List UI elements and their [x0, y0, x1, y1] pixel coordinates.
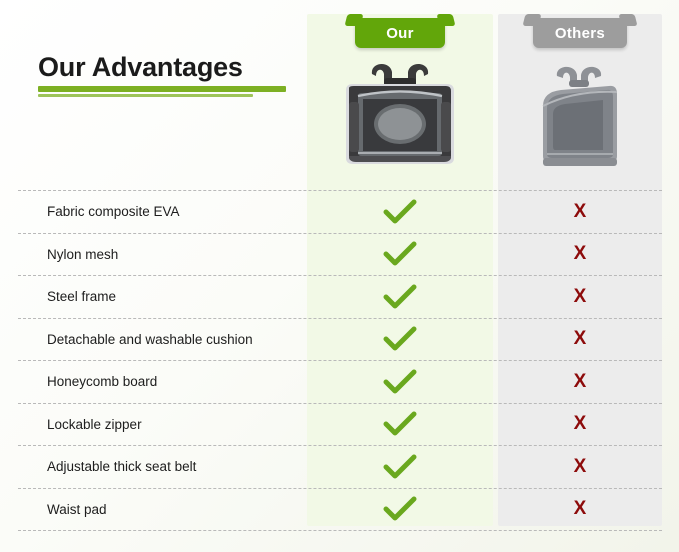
feature-label: Honeycomb board [47, 361, 157, 403]
column-header-others: Others [533, 18, 627, 48]
cross-label: X [574, 243, 587, 265]
table-row: Detachable and washable cushion X [18, 319, 662, 362]
page-title-block: Our Advantages [38, 52, 293, 97]
cross-label: X [574, 328, 587, 350]
comparison-table: Fabric composite EVA X Nylon mesh X Stee… [18, 190, 662, 531]
ours-check-icon [307, 319, 493, 361]
table-row: Nylon mesh X [18, 234, 662, 277]
table-row: Honeycomb board X [18, 361, 662, 404]
product-image-ours [332, 58, 468, 170]
table-row: Steel frame X [18, 276, 662, 319]
table-row: Fabric composite EVA X [18, 190, 662, 234]
cross-label: X [574, 456, 587, 478]
table-row: Lockable zipper X [18, 404, 662, 447]
others-cross-icon: X [498, 489, 662, 531]
column-header-ours-label: Our [386, 25, 414, 42]
page-title: Our Advantages [38, 52, 293, 83]
ours-check-icon [307, 404, 493, 446]
comparison-infographic: Our Others Our Advantages [0, 0, 679, 552]
feature-label: Nylon mesh [47, 234, 118, 276]
ours-check-icon [307, 234, 493, 276]
column-header-ours: Our [355, 18, 445, 48]
ours-check-icon [307, 276, 493, 318]
feature-label: Steel frame [47, 276, 116, 318]
ours-check-icon [307, 446, 493, 488]
cross-label: X [574, 371, 587, 393]
table-row: Adjustable thick seat belt X [18, 446, 662, 489]
others-cross-icon: X [498, 234, 662, 276]
feature-label: Waist pad [47, 489, 107, 531]
title-underline-secondary [38, 94, 253, 97]
feature-label: Fabric composite EVA [47, 191, 180, 233]
cross-label: X [574, 413, 587, 435]
cross-label: X [574, 201, 587, 223]
others-cross-icon: X [498, 191, 662, 233]
ours-check-icon [307, 489, 493, 531]
feature-label: Adjustable thick seat belt [47, 446, 196, 488]
feature-label: Detachable and washable cushion [47, 319, 253, 361]
ours-check-icon [307, 361, 493, 403]
product-image-others [523, 62, 635, 170]
cross-label: X [574, 286, 587, 308]
feature-label: Lockable zipper [47, 404, 142, 446]
others-cross-icon: X [498, 276, 662, 318]
ours-check-icon [307, 191, 493, 233]
others-cross-icon: X [498, 319, 662, 361]
table-row: Waist pad X [18, 489, 662, 532]
cross-label: X [574, 498, 587, 520]
others-cross-icon: X [498, 361, 662, 403]
others-cross-icon: X [498, 446, 662, 488]
title-underline [38, 86, 286, 92]
column-header-others-label: Others [555, 25, 605, 42]
others-cross-icon: X [498, 404, 662, 446]
